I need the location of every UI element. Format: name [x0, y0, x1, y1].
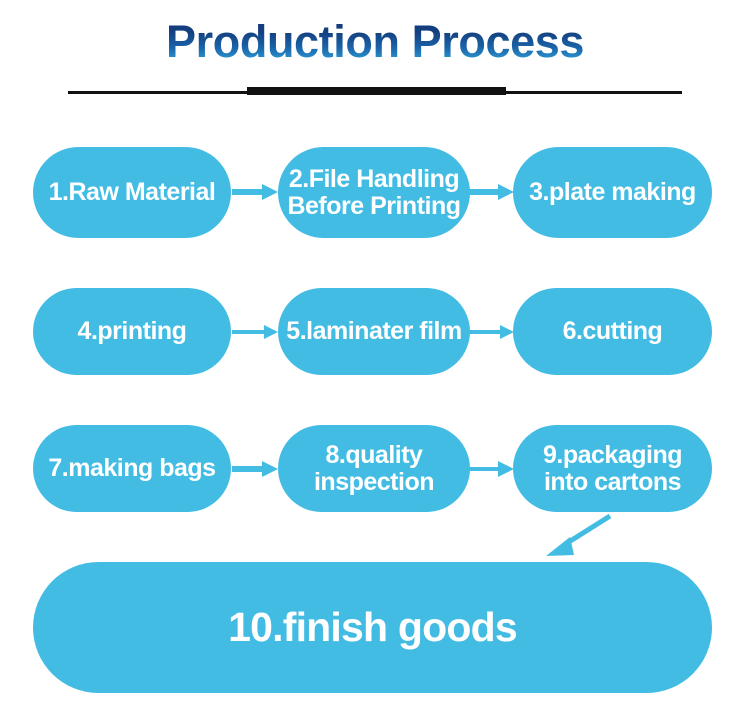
production-process-diagram: Production Process 1.Raw Material 2.File…	[0, 0, 750, 720]
process-step-4-label: 4.printing	[74, 319, 191, 345]
process-step-2-line1: 2.File Handling	[289, 165, 459, 193]
process-step-5[interactable]: 5.laminater film	[278, 288, 470, 375]
process-step-1-label: 1.Raw Material	[45, 180, 220, 206]
process-step-9-line1: 9.packaging	[543, 441, 682, 469]
page-title: Production Process	[166, 18, 584, 65]
process-step-9-label: 9.packaging into cartons	[539, 442, 686, 495]
page-title-container: Production Process	[0, 18, 750, 65]
process-step-9[interactable]: 9.packaging into cartons	[513, 425, 712, 512]
process-step-8-line1: 8.quality	[326, 441, 423, 469]
process-step-10[interactable]: 10.finish goods	[33, 562, 712, 693]
process-step-2[interactable]: 2.File Handling Before Printing	[278, 147, 470, 238]
process-step-2-line2: Before Printing	[287, 192, 460, 220]
process-step-5-label: 5.laminater film	[282, 319, 465, 345]
process-step-3-label: 3.plate making	[525, 180, 700, 206]
process-step-4[interactable]: 4.printing	[33, 288, 231, 375]
process-step-7-label: 7.making bags	[44, 456, 219, 482]
process-step-9-line2: into cartons	[544, 468, 681, 496]
process-step-7[interactable]: 7.making bags	[33, 425, 231, 512]
process-step-8[interactable]: 8.quality inspection	[278, 425, 470, 512]
arrow-step-4-to-5	[232, 320, 280, 344]
process-step-8-label: 8.quality inspection	[310, 442, 438, 495]
arrow-step-8-to-9	[468, 457, 516, 481]
process-step-10-label: 10.finish goods	[224, 607, 521, 649]
arrow-step-7-to-8	[232, 457, 280, 481]
arrow-step-1-to-2	[232, 180, 280, 204]
title-divider-accent	[247, 87, 506, 95]
process-step-2-label: 2.File Handling Before Printing	[283, 166, 464, 219]
arrow-step-9-to-10	[536, 510, 626, 566]
arrow-step-5-to-6	[468, 320, 516, 344]
arrow-step-2-to-3	[468, 180, 516, 204]
process-step-1[interactable]: 1.Raw Material	[33, 147, 231, 238]
process-step-8-line2: inspection	[314, 468, 434, 496]
process-step-6[interactable]: 6.cutting	[513, 288, 712, 375]
process-step-6-label: 6.cutting	[559, 319, 667, 345]
process-step-3[interactable]: 3.plate making	[513, 147, 712, 238]
